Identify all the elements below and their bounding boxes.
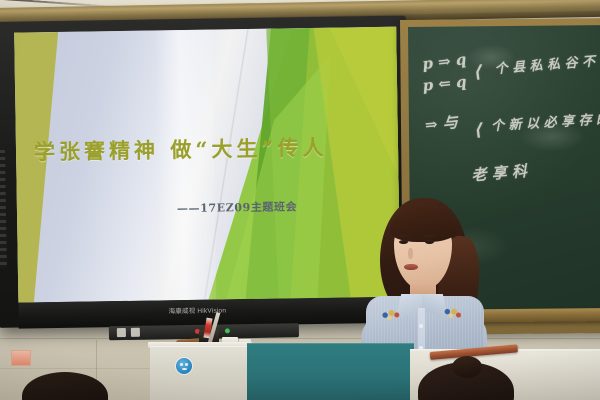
interactive-flat-panel[interactable]: 学张謇精神 做“大生”传人 ——17EZ09主题班会 海康威视 HikVisio… — [0, 16, 411, 328]
lectern-front-panel — [247, 343, 414, 400]
slide-title: 学张謇精神 做“大生”传人 — [34, 132, 334, 167]
panel-screen[interactable]: 学张謇精神 做“大生”传人 ——17EZ09主题班会 — [14, 27, 400, 303]
chalk-line: 老 享 科 — [471, 160, 528, 185]
wall-seam — [0, 338, 600, 339]
panel-side-port-strip[interactable] — [0, 150, 7, 268]
chalk-line: ⇒ 与 — [424, 111, 459, 135]
classroom-photo-scene: 学张謇精神 做“大生”传人 ——17EZ09主题班会 海康威视 HikVisio… — [0, 0, 600, 400]
podium-cabinet — [150, 346, 250, 400]
eye-left — [399, 240, 408, 244]
mouth — [404, 264, 418, 270]
panel-status-led-green — [225, 328, 230, 333]
chalk-line: p ⇒ q — [421, 50, 467, 73]
wall-sticker — [11, 350, 31, 366]
chalk-smudge — [466, 44, 516, 70]
eyebrow-left — [398, 235, 409, 237]
eye-right — [425, 240, 434, 244]
panel-source-button[interactable] — [131, 328, 140, 337]
panel-power-button[interactable] — [117, 328, 126, 337]
student-hair-bun — [452, 356, 482, 378]
eyebrow-right — [424, 235, 435, 237]
shirt-button — [419, 324, 423, 328]
chalk-smudge — [519, 121, 585, 152]
chalk-line: p ⇐ q — [422, 73, 468, 95]
nose — [408, 248, 413, 259]
screen-glare — [154, 30, 216, 301]
podium-blue-emblem-sticker — [176, 358, 192, 374]
chalk-line: ⟨ — [475, 120, 483, 140]
